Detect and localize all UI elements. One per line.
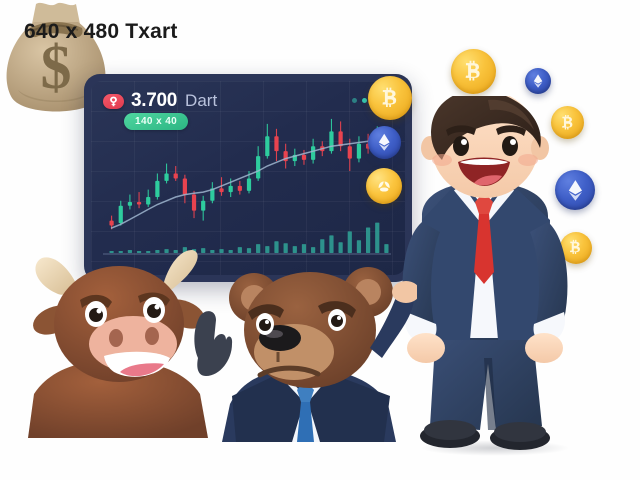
bull-mascot [28, 248, 233, 438]
bear-mascot [222, 262, 417, 442]
size-badge: 140 x 40 [124, 113, 188, 130]
scene-canvas: 640 x 480 Txart 3.700 Dart 140 x 40 [0, 0, 640, 480]
chart-screen: 3.700 Dart 140 x 40 [91, 81, 405, 275]
ethereum-icon [368, 126, 401, 159]
ethereum-icon [525, 68, 551, 94]
panel-header: 3.700 Dart [103, 90, 217, 112]
bitcoin-icon [451, 49, 496, 94]
businessman [392, 96, 577, 458]
page-title: 640 x 480 Txart [24, 20, 178, 44]
dot-1 [352, 98, 357, 103]
bitcoin-icon [368, 76, 412, 120]
price-unit: Dart [185, 91, 217, 111]
price-value: 3.700 [131, 90, 177, 112]
dollar-symbol: $ [41, 34, 72, 102]
dot-2 [362, 98, 367, 103]
altcoin-icon [366, 168, 402, 204]
location-pin-icon [103, 94, 124, 109]
